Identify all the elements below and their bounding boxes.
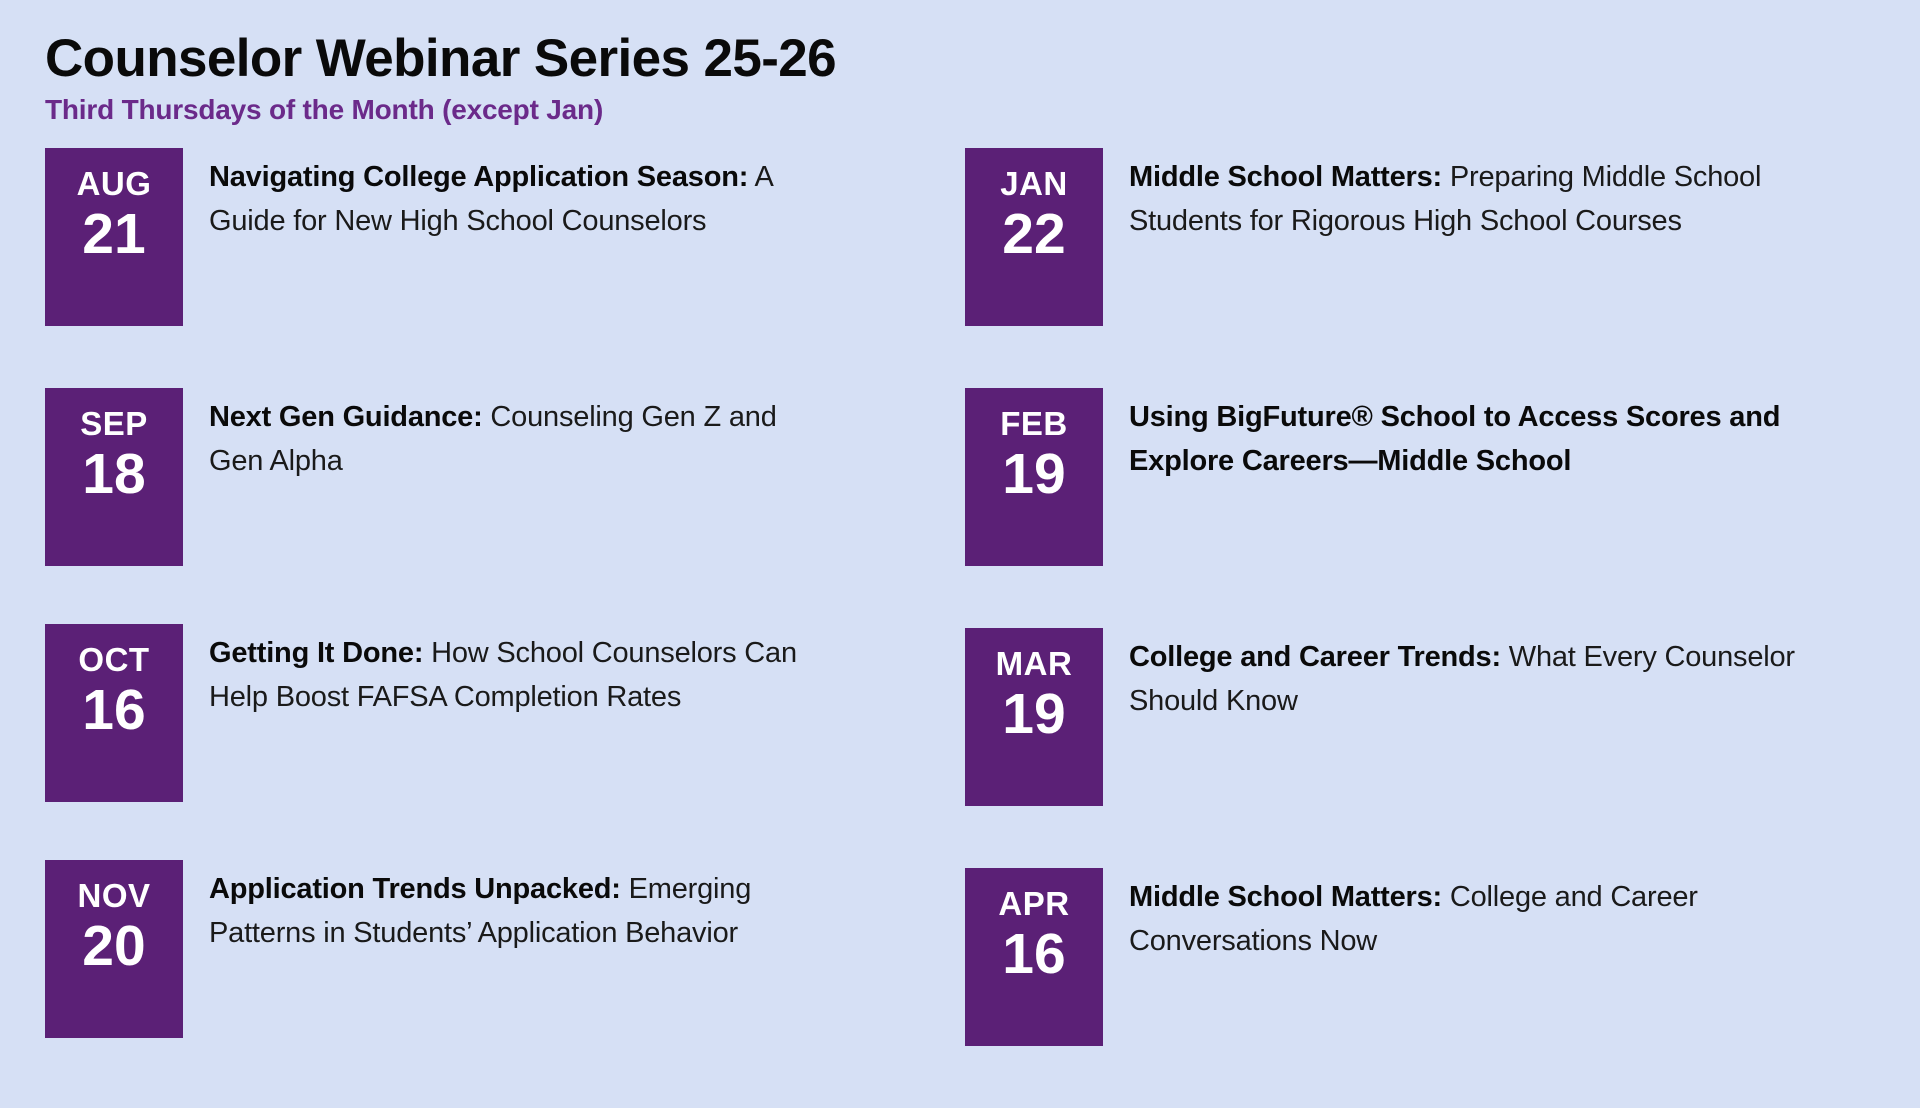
date-badge: OCT 16	[45, 624, 183, 802]
date-badge: JAN 22	[965, 148, 1103, 326]
date-badge: SEP 18	[45, 388, 183, 566]
event-item: OCT 16 Getting It Done: How School Couns…	[45, 624, 835, 802]
event-description: Application Trends Unpacked: Emerging Pa…	[183, 860, 829, 955]
badge-month: NOV	[77, 878, 150, 914]
event-description: Middle School Matters: College and Caree…	[1103, 868, 1845, 963]
event-item: APR 16 Middle School Matters: College an…	[965, 868, 1845, 1046]
event-description: Navigating College Application Season: A…	[183, 148, 829, 243]
event-column-right: JAN 22 Middle School Matters: Preparing …	[835, 148, 1845, 1108]
event-lead: Getting It Done:	[209, 637, 423, 669]
event-lead: Using BigFuture® School to Access Scores…	[1129, 401, 1780, 477]
badge-month: MAR	[996, 646, 1073, 682]
event-item: FEB 19 Using BigFuture® School to Access…	[965, 388, 1845, 566]
page-subtitle: Third Thursdays of the Month (except Jan…	[45, 94, 1880, 126]
date-badge: AUG 21	[45, 148, 183, 326]
event-columns: AUG 21 Navigating College Application Se…	[45, 148, 1880, 1108]
badge-day: 16	[82, 681, 145, 741]
event-description: College and Career Trends: What Every Co…	[1103, 628, 1845, 723]
poster-header: Counselor Webinar Series 25-26 Third Thu…	[45, 30, 1880, 126]
badge-month: FEB	[1000, 406, 1068, 442]
event-description: Getting It Done: How School Counselors C…	[183, 624, 829, 719]
event-item: SEP 18 Next Gen Guidance: Counseling Gen…	[45, 388, 835, 566]
date-badge: NOV 20	[45, 860, 183, 1038]
badge-day: 19	[1002, 685, 1065, 745]
date-badge: FEB 19	[965, 388, 1103, 566]
event-lead: Application Trends Unpacked:	[209, 873, 621, 905]
badge-day: 22	[1002, 205, 1065, 265]
badge-month: SEP	[80, 406, 148, 442]
event-description: Middle School Matters: Preparing Middle …	[1103, 148, 1845, 243]
badge-day: 21	[82, 205, 145, 265]
page-title: Counselor Webinar Series 25-26	[45, 30, 1880, 88]
badge-day: 20	[82, 917, 145, 977]
webinar-series-poster: Counselor Webinar Series 25-26 Third Thu…	[0, 0, 1920, 1080]
event-lead: Middle School Matters:	[1129, 161, 1442, 193]
event-lead: Navigating College Application Season:	[209, 161, 748, 193]
badge-day: 19	[1002, 445, 1065, 505]
badge-month: AUG	[77, 166, 152, 202]
date-badge: APR 16	[965, 868, 1103, 1046]
event-lead: Middle School Matters:	[1129, 881, 1442, 913]
event-item: MAR 19 College and Career Trends: What E…	[965, 628, 1845, 806]
event-lead: Next Gen Guidance:	[209, 401, 483, 433]
event-description: Next Gen Guidance: Counseling Gen Z and …	[183, 388, 829, 483]
badge-month: APR	[998, 886, 1069, 922]
badge-month: OCT	[78, 642, 149, 678]
event-item: NOV 20 Application Trends Unpacked: Emer…	[45, 860, 835, 1038]
event-column-left: AUG 21 Navigating College Application Se…	[45, 148, 835, 1100]
event-lead: College and Career Trends:	[1129, 641, 1501, 673]
event-description: Using BigFuture® School to Access Scores…	[1103, 388, 1845, 483]
event-item: AUG 21 Navigating College Application Se…	[45, 148, 835, 326]
badge-month: JAN	[1000, 166, 1068, 202]
event-item: JAN 22 Middle School Matters: Preparing …	[965, 148, 1845, 326]
badge-day: 18	[82, 445, 145, 505]
badge-day: 16	[1002, 925, 1065, 985]
date-badge: MAR 19	[965, 628, 1103, 806]
